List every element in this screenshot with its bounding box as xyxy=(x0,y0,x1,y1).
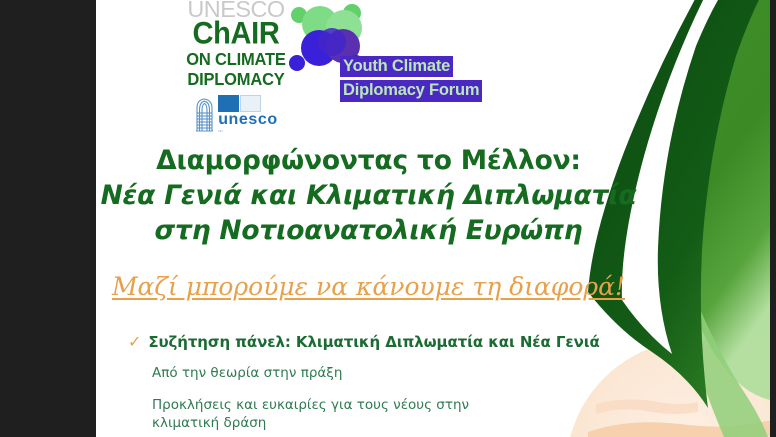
unesco-wordmark-text: unesco xyxy=(218,112,278,129)
unesco-emblem: unesco ••• xyxy=(184,95,288,133)
ycdf-title-block: Youth Climate Diplomacy Forum xyxy=(340,56,510,102)
slide-canvas: UNESCO ChAIR ON CLIMATE DIPLOMACY xyxy=(96,0,770,437)
title-line-1: Διαμορφώνοντας το Μέλλον: xyxy=(96,144,641,179)
title-line-2: Νέα Γενιά και Κλιματική Διπλωματία xyxy=(96,179,641,214)
unesco-chair-diplomacy: DIPLOMACY xyxy=(184,71,288,88)
list-item: Από την θεωρία στην πράξη xyxy=(152,364,482,383)
list-item: Προκλήσεις και ευκαιρίες για τους νέους … xyxy=(152,396,482,433)
unesco-wordmark-subtitle: ••• xyxy=(218,129,278,133)
leaf-shape-light xyxy=(666,0,770,400)
agenda-list: ✓ Συζήτηση πάνελ: Κλιματική Διπλωματία κ… xyxy=(128,333,648,433)
unesco-box-left xyxy=(218,95,239,112)
leaf-tail-light xyxy=(682,300,768,437)
unesco-wordmark: unesco ••• xyxy=(218,95,278,133)
title-line-3: στη Νοτιοανατολική Ευρώπη xyxy=(96,214,641,249)
ycdf-title-line1: Youth Climate xyxy=(340,56,453,77)
unesco-chair-on-climate: ON CLIMATE xyxy=(184,52,288,69)
slide-title: Διαμορφώνοντας το Μέλλον: Νέα Γενιά και … xyxy=(96,144,641,249)
unesco-chair-logo: UNESCO ChAIR ON CLIMATE DIPLOMACY xyxy=(184,0,288,133)
presentation-viewer: UNESCO ChAIR ON CLIMATE DIPLOMACY xyxy=(0,0,776,437)
check-icon: ✓ xyxy=(128,334,141,350)
unesco-temple-icon xyxy=(194,97,215,133)
unesco-logo-boxes xyxy=(218,95,278,112)
agenda-headline-label: Συζήτηση πάνελ: Κλιματική Διπλωματία και… xyxy=(148,333,599,351)
ycdf-title-line2: Diplomacy Forum xyxy=(340,80,482,101)
agenda-headline: ✓ Συζήτηση πάνελ: Κλιματική Διπλωματία κ… xyxy=(128,333,648,351)
unesco-box-right xyxy=(240,95,261,112)
slide-claim-text: Μαζί μπορούμε να κάνουμε τη διαφορά! xyxy=(96,272,641,301)
unesco-chair-chair-word: ChAIR xyxy=(184,19,288,50)
